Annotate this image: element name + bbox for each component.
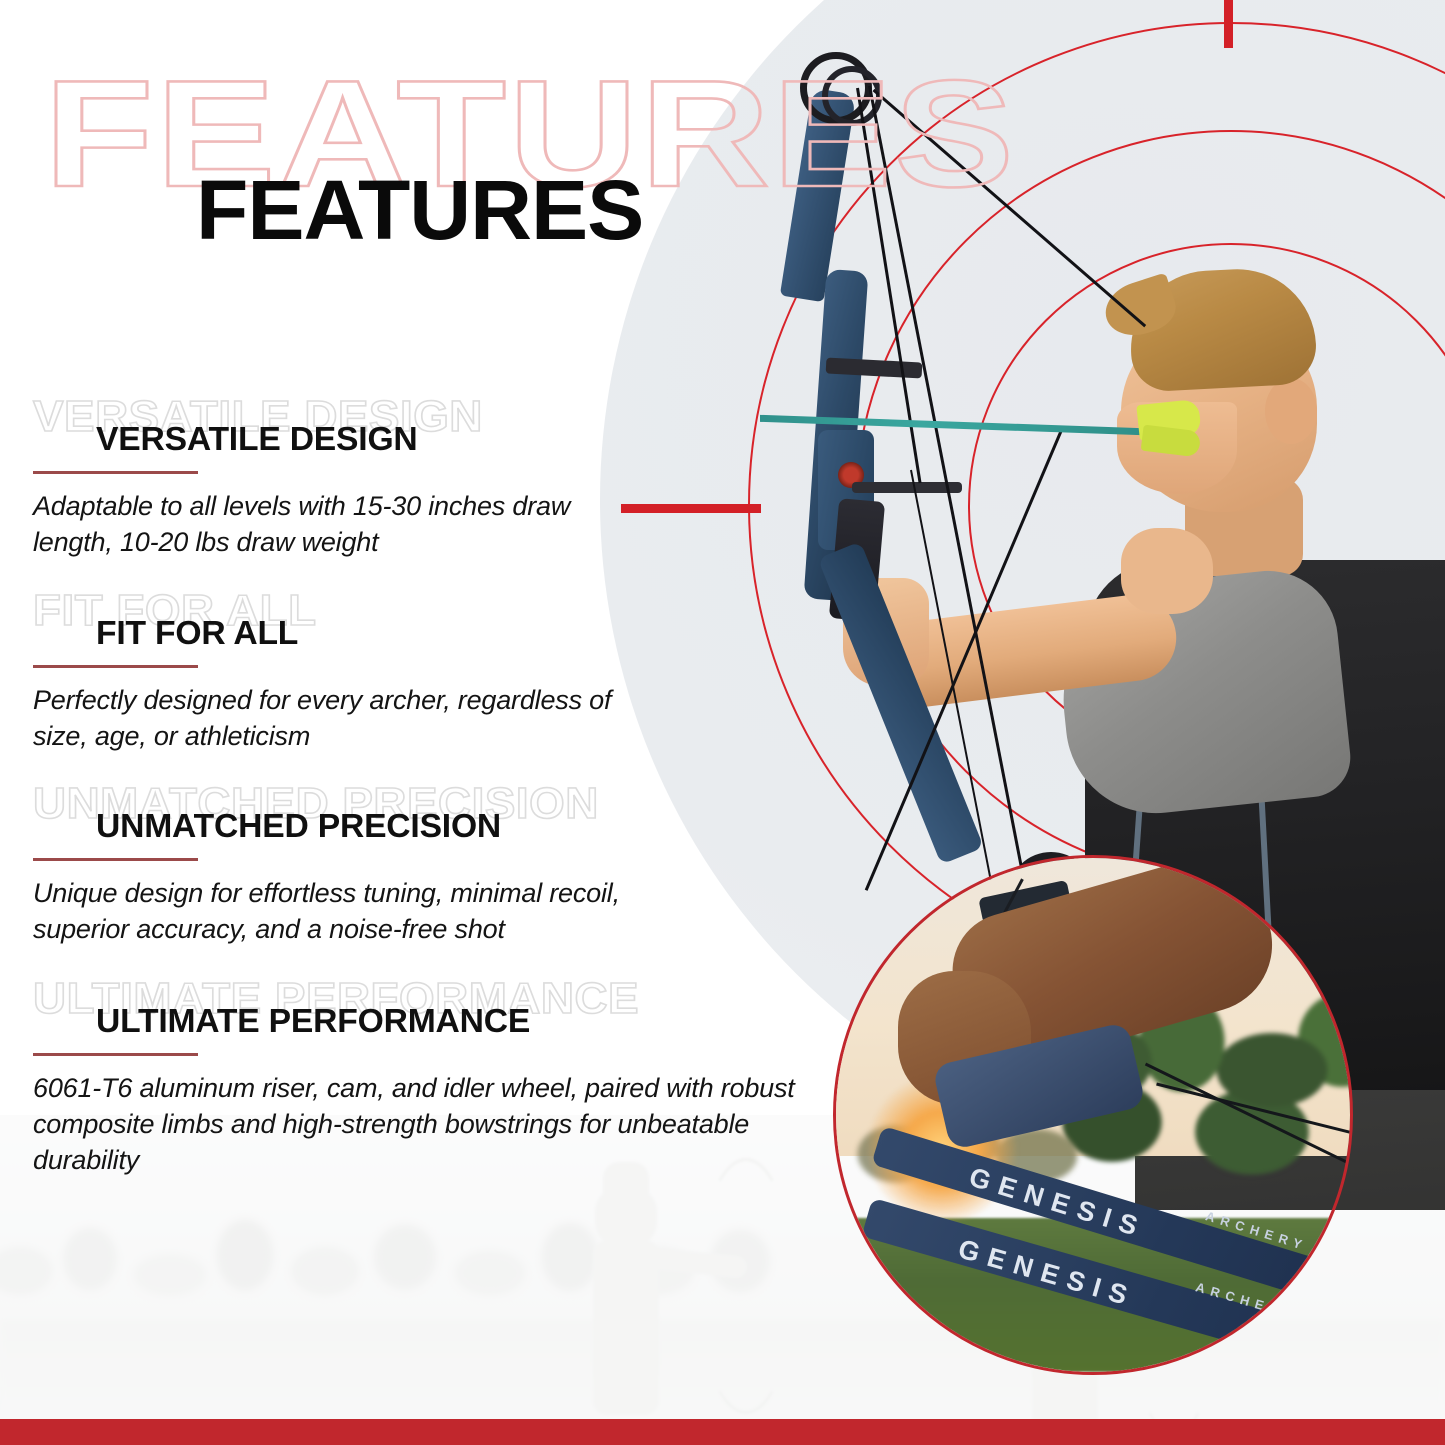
feature-body: Perfectly designed for every archer, reg…: [33, 683, 673, 755]
feature-body: Adaptable to all levels with 15-30 inche…: [33, 489, 633, 561]
feature-heading: VERSATILE DESIGN: [96, 420, 418, 458]
feature-underline: [33, 665, 198, 668]
page-title: FEATURES: [196, 168, 643, 252]
feature-underline: [33, 471, 198, 474]
feature-body: Unique design for effortless tuning, min…: [33, 876, 723, 948]
target-tick-left: [621, 504, 761, 513]
feature-heading: FIT FOR ALL: [96, 614, 298, 652]
feature-heading: UNMATCHED PRECISION: [96, 807, 501, 845]
feature-underline: [33, 1053, 198, 1056]
infographic-canvas: GENESIS ARCHERY GENESIS ARCHERY FEATURES…: [0, 0, 1445, 1445]
feature-underline: [33, 858, 198, 861]
feature-heading: ULTIMATE PERFORMANCE: [96, 1002, 530, 1040]
inset-circle-photo: GENESIS ARCHERY GENESIS ARCHERY: [833, 855, 1353, 1375]
feature-body: 6061-T6 aluminum riser, cam, and idler w…: [33, 1071, 823, 1179]
bottom-accent-bar: [0, 1419, 1445, 1445]
bow-lower-limb: [818, 541, 984, 864]
